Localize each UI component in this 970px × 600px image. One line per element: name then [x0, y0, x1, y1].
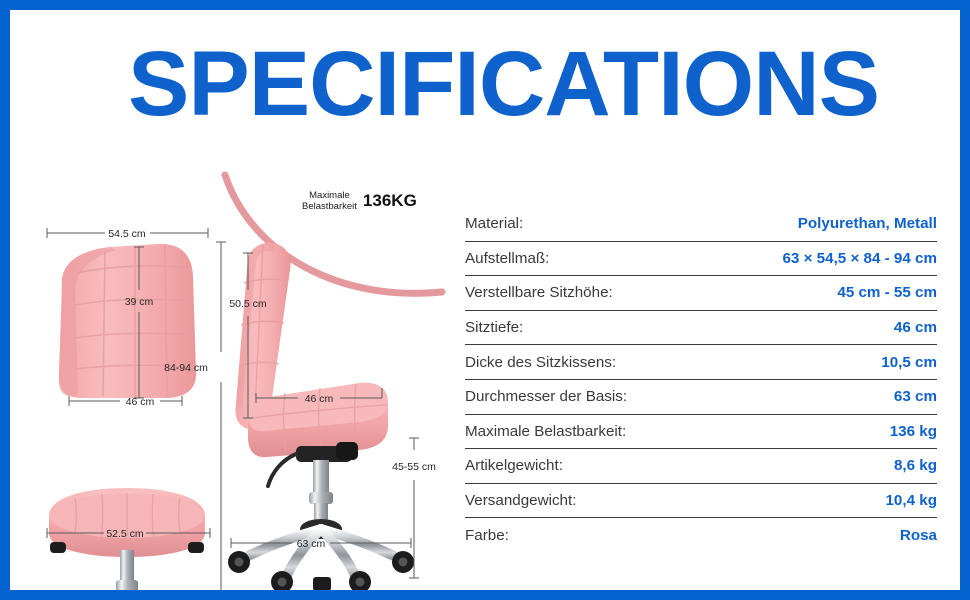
spec-value: Polyurethan, Metall — [798, 215, 937, 232]
table-row: Durchmesser der Basis: 63 cm — [465, 380, 937, 415]
spec-value: 8,6 kg — [894, 457, 937, 474]
spec-value: 63 × 54,5 × 84 - 94 cm — [782, 250, 937, 267]
table-row: Sitztiefe: 46 cm — [465, 311, 937, 346]
dim-front-total-height: 84-94 cm — [164, 362, 208, 374]
max-load-line2: Belastbarkeit — [302, 201, 357, 212]
dim-front-seat-outer: 52.5 cm — [106, 528, 144, 540]
spec-label: Sitztiefe: — [465, 319, 523, 336]
table-row: Aufstellmaß: 63 × 54,5 × 84 - 94 cm — [465, 242, 937, 277]
content-area: SPECIFICATIONS — [10, 10, 960, 590]
spec-label: Dicke des Sitzkissens: — [465, 354, 616, 371]
table-row: Material: Polyurethan, Metall — [465, 207, 937, 242]
chair-diagram: 54.5 cm 39 cm 46 cm 52.5 cm 84-94 cm 50.… — [20, 150, 450, 590]
page-title: SPECIFICATIONS — [128, 34, 868, 134]
table-row: Maximale Belastbarkeit: 136 kg — [465, 415, 937, 450]
table-row: Dicke des Sitzkissens: 10,5 cm — [465, 345, 937, 380]
table-row: Versandgewicht: 10,4 kg — [465, 484, 937, 519]
spec-label: Durchmesser der Basis: — [465, 388, 627, 405]
max-load-callout: Maximale Belastbarkeit 136KG — [302, 186, 452, 216]
spec-value: 10,4 kg — [885, 492, 937, 509]
max-load-value: 136KG — [363, 191, 417, 211]
spec-label: Aufstellmaß: — [465, 250, 549, 267]
spec-value: 45 cm - 55 cm — [837, 284, 937, 301]
table-row: Verstellbare Sitzhöhe: 45 cm - 55 cm — [465, 276, 937, 311]
spec-label: Material: — [465, 215, 523, 232]
dim-front-backrest: 39 cm — [125, 296, 154, 308]
spec-value: 136 kg — [890, 423, 937, 440]
spec-label: Farbe: — [465, 527, 509, 544]
spec-value: 46 cm — [894, 319, 937, 336]
dim-front-seat-width: 46 cm — [126, 396, 155, 408]
dim-side-backrest: 50.5 cm — [229, 298, 267, 310]
dim-front-width: 54.5 cm — [108, 228, 146, 240]
spec-label: Verstellbare Sitzhöhe: — [465, 284, 613, 301]
spec-label: Maximale Belastbarkeit: — [465, 423, 626, 440]
max-load-line1: Maximale — [309, 190, 350, 201]
dim-side-seat-depth: 46 cm — [305, 393, 334, 405]
spec-value: 10,5 cm — [881, 354, 937, 371]
spec-label: Artikelgewicht: — [465, 457, 563, 474]
table-row: Artikelgewicht: 8,6 kg — [465, 449, 937, 484]
specifications-banner: SPECIFICATIONS — [0, 0, 970, 600]
spec-label: Versandgewicht: — [465, 492, 576, 509]
specifications-table: Material: Polyurethan, Metall Aufstellma… — [465, 207, 937, 553]
max-load-caption: Maximale Belastbarkeit — [302, 190, 357, 212]
dim-side-seat-height: 45-55 cm — [392, 461, 436, 473]
spec-value: Rosa — [900, 527, 937, 544]
spec-value: 63 cm — [894, 388, 937, 405]
dim-side-base-diameter: 63 cm — [297, 538, 326, 550]
table-row: Farbe: Rosa — [465, 518, 937, 553]
